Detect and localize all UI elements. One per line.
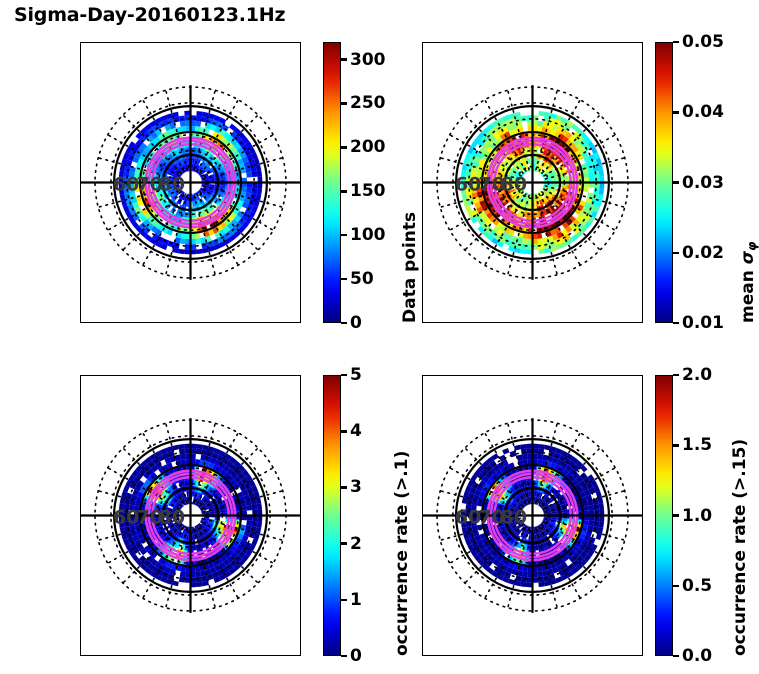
colorbar-tick-mark <box>341 146 347 149</box>
colorbar-label-data-points: Data points <box>400 212 420 323</box>
colorbar-tick-mark <box>341 58 347 61</box>
figure-root: Sigma-Day-20160123.1Hz 607080 0501001502… <box>0 0 759 674</box>
polar-plot-panel-occurrence-rate-01[interactable]: 607080 <box>80 375 301 656</box>
latitude-label-80: 80 <box>501 174 527 196</box>
colorbar-occurrence-rate-015[interactable] <box>655 375 673 656</box>
polar-plot-svg: 607080 <box>423 43 642 322</box>
colorbar-ticks-data-points: 050100150200250300 <box>341 42 401 323</box>
colorbar-tick-mark <box>673 444 679 447</box>
colorbar-tick-label: 0.01 <box>682 313 724 333</box>
latitude-label-80: 80 <box>159 174 185 196</box>
colorbar-tick-label: 100 <box>350 225 386 245</box>
colorbar-tick-label: 2.0 <box>682 365 712 385</box>
colorbar-tick-mark <box>341 655 347 658</box>
colorbar-tick-mark <box>673 374 679 377</box>
colorbar-ticks-occurrence-rate-015: 0.00.51.01.52.0 <box>673 375 733 656</box>
colorbar-label-mean-sigma-phi: mean σφ <box>738 242 759 323</box>
colorbar-tick-label: 3 <box>350 477 362 497</box>
colorbar-tick-label: 1.0 <box>682 506 712 526</box>
colorbar-mean-sigma-phi[interactable] <box>655 42 673 323</box>
colorbar-tick-label: 1 <box>350 590 362 610</box>
colorbar-label-occurrence-rate-015: occurrence rate (>.15) <box>730 439 750 656</box>
colorbar-occurrence-rate-01[interactable] <box>323 375 341 656</box>
colorbar-tick-label: 300 <box>350 50 386 70</box>
colorbar-tick-mark <box>673 322 679 325</box>
colorbar-tick-mark <box>341 374 347 377</box>
colorbar-tick-label: 2 <box>350 534 362 554</box>
colorbar-tick-mark <box>341 102 347 105</box>
colorbar-tick-label: 0.03 <box>682 173 724 193</box>
colorbar-tick-mark <box>341 234 347 237</box>
colorbar-tick-mark <box>673 655 679 658</box>
latitude-label-60: 60 <box>455 507 481 529</box>
colorbar-tick-mark <box>673 111 679 114</box>
colorbar-tick-mark <box>341 278 347 281</box>
colorbar-tick-label: 50 <box>350 269 374 289</box>
colorbar-tick-mark <box>341 542 347 545</box>
page-title: Sigma-Day-20160123.1Hz <box>14 4 285 26</box>
polar-plot-panel-mean-sigma-phi[interactable]: 607080 <box>422 42 643 323</box>
colorbar-tick-mark <box>341 599 347 602</box>
polar-plot-svg: 607080 <box>81 43 300 322</box>
colorbar-tick-label: 0.05 <box>682 32 724 52</box>
colorbar-tick-label: 4 <box>350 421 362 441</box>
colorbar-tick-mark <box>673 514 679 517</box>
colorbar-tick-label: 0.02 <box>682 243 724 263</box>
colorbar-tick-mark <box>341 430 347 433</box>
colorbar-tick-label: 0 <box>350 646 362 666</box>
latitude-label-60: 60 <box>113 507 139 529</box>
colorbar-tick-mark <box>673 41 679 44</box>
polar-plot-svg: 607080 <box>81 376 300 655</box>
latitude-label-60: 60 <box>113 174 139 196</box>
polar-plot-panel-data-points[interactable]: 607080 <box>80 42 301 323</box>
latitude-label-80: 80 <box>501 507 527 529</box>
colorbar-tick-mark <box>673 181 679 184</box>
colorbar-tick-mark <box>341 322 347 325</box>
colorbar-tick-label: 0.5 <box>682 576 712 596</box>
colorbar-tick-label: 1.5 <box>682 435 712 455</box>
latitude-label-60: 60 <box>455 174 481 196</box>
colorbar-tick-label: 200 <box>350 137 386 157</box>
colorbar-tick-label: 250 <box>350 93 386 113</box>
colorbar-tick-mark <box>341 190 347 193</box>
colorbar-tick-label: 0.0 <box>682 646 712 666</box>
polar-plot-svg: 607080 <box>423 376 642 655</box>
colorbar-data-points[interactable] <box>323 42 341 323</box>
colorbar-tick-label: 150 <box>350 181 386 201</box>
colorbar-tick-mark <box>673 252 679 255</box>
latitude-label-80: 80 <box>159 507 185 529</box>
colorbar-tick-mark <box>673 585 679 588</box>
colorbar-ticks-mean-sigma-phi: 0.010.020.030.040.05 <box>673 42 733 323</box>
colorbar-tick-label: 5 <box>350 365 362 385</box>
colorbar-label-occurrence-rate-01: occurrence rate (>.1) <box>392 451 412 656</box>
colorbar-tick-label: 0.04 <box>682 102 724 122</box>
colorbar-tick-mark <box>341 486 347 489</box>
polar-plot-panel-occurrence-rate-015[interactable]: 607080 <box>422 375 643 656</box>
colorbar-tick-label: 0 <box>350 313 362 333</box>
